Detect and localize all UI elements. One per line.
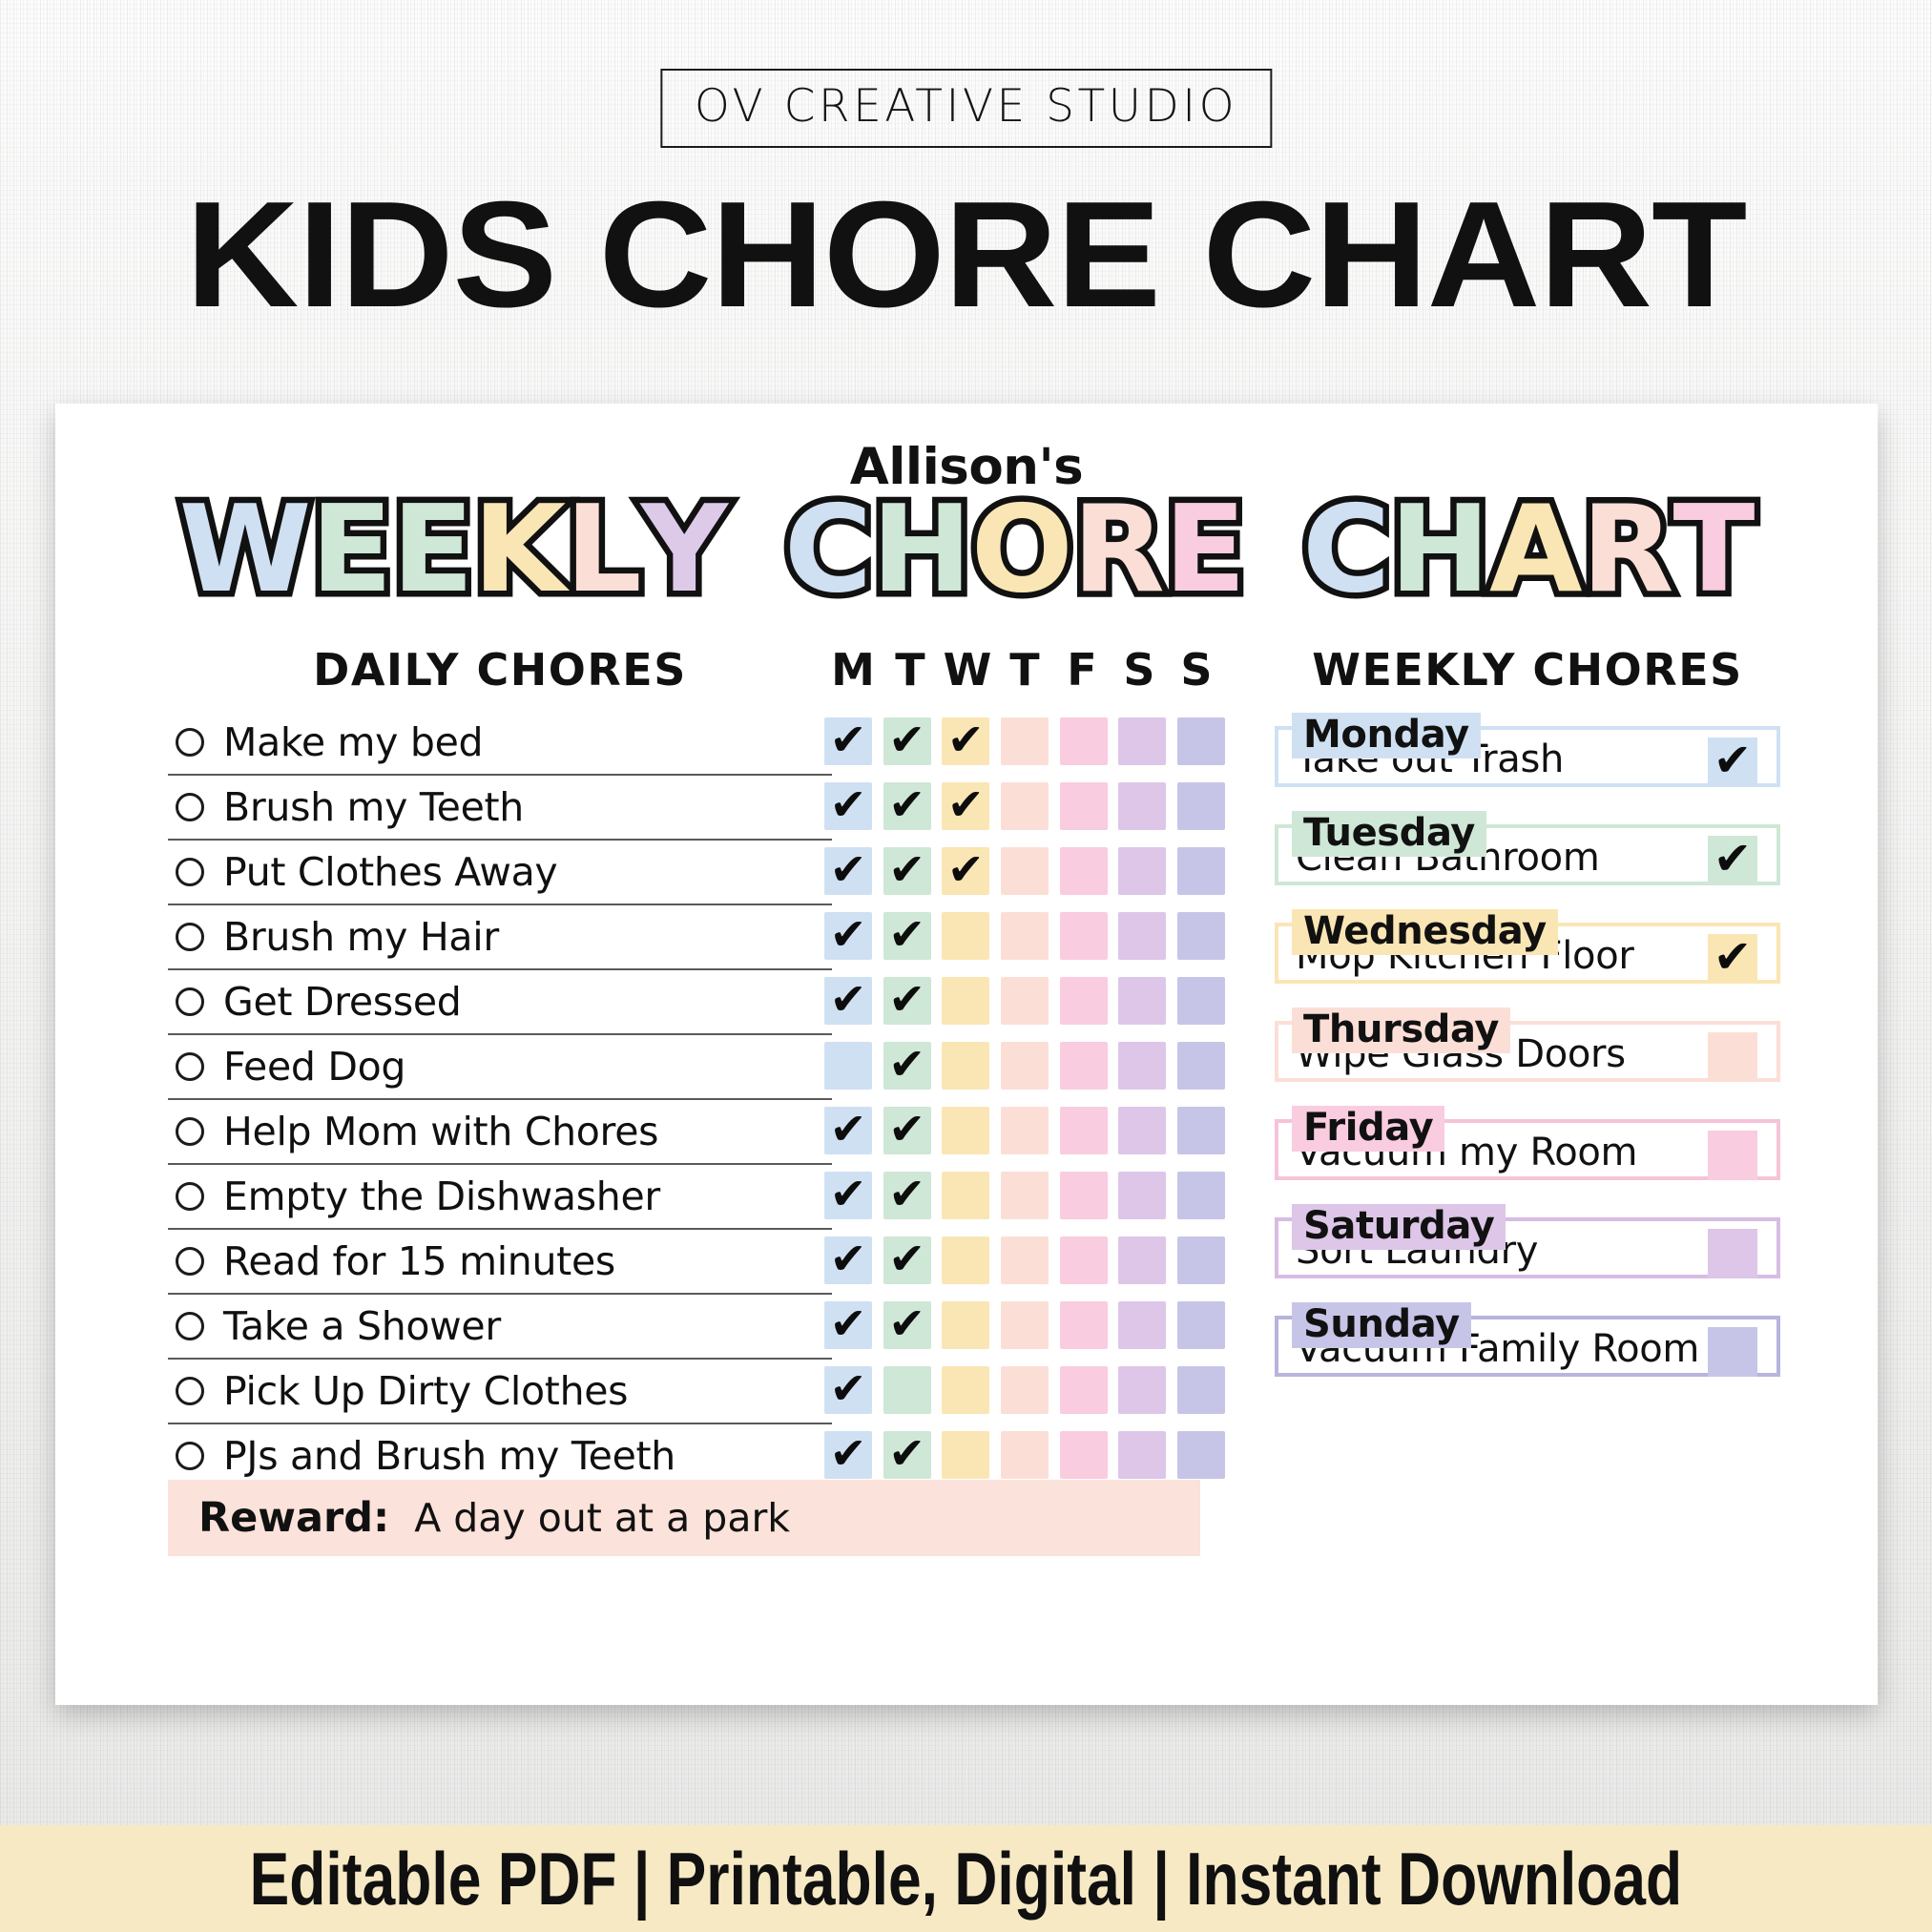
checkbox-swatch xyxy=(1177,977,1225,1025)
week-row: ✔✔ xyxy=(824,1098,1225,1163)
check-icon: ✔ xyxy=(888,1236,925,1280)
week-row: ✔✔ xyxy=(824,1293,1225,1358)
bubble-letter: E xyxy=(392,489,473,610)
day-checkbox[interactable] xyxy=(942,1042,989,1090)
daily-chore-row[interactable]: Brush my Hair xyxy=(168,905,832,970)
footer-text: Editable PDF | Printable, Digital | Inst… xyxy=(250,1836,1682,1922)
checkbox-swatch xyxy=(1177,847,1225,895)
day-letter-6: S xyxy=(1168,644,1225,696)
checkbox-swatch xyxy=(1177,1172,1225,1219)
checkbox-swatch xyxy=(1118,847,1166,895)
day-checkbox[interactable] xyxy=(1118,782,1166,830)
day-checkbox[interactable]: ✔ xyxy=(883,782,931,830)
checkbox-swatch xyxy=(1001,977,1049,1025)
checkbox-swatch xyxy=(1177,1366,1225,1414)
day-checkbox[interactable] xyxy=(1177,1042,1225,1090)
circle-bullet-icon[interactable] xyxy=(176,1182,204,1211)
bubble-title: WEEKLYCHORECHART xyxy=(55,489,1878,610)
day-letter-0: M xyxy=(824,644,882,696)
day-checkbox[interactable] xyxy=(1060,977,1108,1025)
weekly-chore-checkbox[interactable]: ✔ xyxy=(1708,737,1757,787)
reward-bar: Reward: A day out at a park xyxy=(168,1480,1200,1556)
check-icon: ✔ xyxy=(830,1366,867,1410)
day-checkbox[interactable] xyxy=(1060,1236,1108,1284)
daily-chore-label: Empty the Dishwasher xyxy=(223,1174,660,1219)
day-checkbox[interactable] xyxy=(1118,1301,1166,1349)
footer-banner: Editable PDF | Printable, Digital | Inst… xyxy=(0,1825,1932,1932)
bubble-letter: R xyxy=(1072,489,1164,610)
daily-chore-row[interactable]: Put Clothes Away xyxy=(168,841,832,905)
day-checkbox[interactable] xyxy=(1060,1301,1108,1349)
checkbox-swatch xyxy=(824,1042,872,1090)
check-icon: ✔ xyxy=(1714,934,1752,980)
day-checkbox[interactable] xyxy=(942,1172,989,1219)
weekly-chore-checkbox[interactable]: ✔ xyxy=(1708,934,1757,984)
day-checkbox[interactable] xyxy=(1001,1301,1049,1349)
checkbox-swatch xyxy=(1060,1301,1108,1349)
week-row: ✔ xyxy=(824,1358,1225,1423)
circle-bullet-icon[interactable] xyxy=(176,923,204,951)
check-icon: ✔ xyxy=(888,1172,925,1215)
checkbox-swatch xyxy=(942,1172,989,1219)
circle-bullet-icon[interactable] xyxy=(176,1247,204,1276)
chore-chart-card: Allison's WEEKLYCHORECHART DAILY CHORES … xyxy=(55,404,1878,1705)
weekly-chore-item[interactable]: MondayTake out Trash✔ xyxy=(1275,713,1780,787)
day-checkbox[interactable]: ✔ xyxy=(883,1042,931,1090)
day-checkbox[interactable] xyxy=(1001,1042,1049,1090)
checkbox-swatch xyxy=(942,977,989,1025)
check-icon: ✔ xyxy=(888,782,925,826)
day-checkbox[interactable]: ✔ xyxy=(824,1366,872,1414)
checkbox-swatch xyxy=(1177,1042,1225,1090)
checkbox-swatch xyxy=(1060,977,1108,1025)
check-icon: ✔ xyxy=(888,912,925,956)
day-checkbox[interactable] xyxy=(1177,1236,1225,1284)
day-checkbox[interactable] xyxy=(942,1431,989,1479)
daily-chore-label: PJs and Brush my Teeth xyxy=(223,1433,675,1479)
day-checkbox[interactable]: ✔ xyxy=(942,782,989,830)
day-checkbox[interactable]: ✔ xyxy=(824,1301,872,1349)
checkbox-swatch xyxy=(1118,1107,1166,1154)
day-checkbox[interactable] xyxy=(1060,847,1108,895)
day-checkbox[interactable]: ✔ xyxy=(824,912,872,960)
checkbox-swatch xyxy=(1001,1042,1049,1090)
day-checkbox[interactable]: ✔ xyxy=(883,1236,931,1284)
day-checkbox[interactable] xyxy=(1060,717,1108,765)
circle-bullet-icon[interactable] xyxy=(176,793,204,821)
checkbox-swatch xyxy=(1060,1236,1108,1284)
checkbox-swatch xyxy=(1118,782,1166,830)
check-icon: ✔ xyxy=(830,1172,867,1215)
day-checkbox[interactable] xyxy=(1060,782,1108,830)
day-checkbox[interactable]: ✔ xyxy=(824,1431,872,1479)
day-checkbox[interactable] xyxy=(1177,1366,1225,1414)
weekly-chore-checkbox[interactable]: ✔ xyxy=(1708,836,1757,885)
weekly-chore-day-label: Sunday xyxy=(1292,1302,1471,1348)
day-checkbox[interactable] xyxy=(1060,1172,1108,1219)
check-icon: ✔ xyxy=(947,717,985,761)
bubble-word-weekly: WEEKLY xyxy=(179,489,727,610)
weekly-chore-checkbox[interactable] xyxy=(1708,1131,1757,1180)
day-checkbox[interactable]: ✔ xyxy=(824,717,872,765)
checkbox-swatch xyxy=(1118,717,1166,765)
day-checkbox[interactable]: ✔ xyxy=(824,1172,872,1219)
check-icon: ✔ xyxy=(1714,737,1752,783)
circle-bullet-icon[interactable] xyxy=(176,1312,204,1340)
day-checkbox[interactable] xyxy=(824,1042,872,1090)
day-checkbox[interactable] xyxy=(1118,717,1166,765)
day-checkbox[interactable]: ✔ xyxy=(824,1107,872,1154)
day-checkbox[interactable]: ✔ xyxy=(883,1301,931,1349)
day-checkbox[interactable]: ✔ xyxy=(883,977,931,1025)
daily-chore-label: Brush my Teeth xyxy=(223,784,524,830)
checkbox-swatch xyxy=(1177,1107,1225,1154)
bubble-letter: A xyxy=(1489,489,1582,610)
checkbox-swatch xyxy=(1118,912,1166,960)
day-checkbox[interactable] xyxy=(1118,847,1166,895)
bubble-word-chore: CHORE xyxy=(784,489,1245,610)
day-checkbox[interactable] xyxy=(1001,1366,1049,1414)
bubble-letter: T xyxy=(1673,489,1755,610)
daily-chore-row[interactable]: Help Mom with Chores xyxy=(168,1100,832,1165)
week-row: ✔✔✔ xyxy=(824,774,1225,839)
weekly-chore-checkbox[interactable] xyxy=(1708,1032,1757,1082)
check-icon: ✔ xyxy=(830,1431,867,1475)
day-checkbox[interactable] xyxy=(1118,977,1166,1025)
weekly-chore-checkbox[interactable] xyxy=(1708,1229,1757,1278)
checkbox-swatch xyxy=(1001,1301,1049,1349)
check-icon: ✔ xyxy=(947,847,985,891)
check-icon: ✔ xyxy=(1714,836,1752,882)
checkbox-swatch xyxy=(1060,1042,1108,1090)
brand-logo-box: OV CREATIVE STUDIO xyxy=(660,69,1272,148)
checkbox-swatch xyxy=(942,1236,989,1284)
checkbox-swatch xyxy=(1060,782,1108,830)
weekly-chores-column: WEEKLY CHORES MondayTake out Trash✔Tuesd… xyxy=(1275,644,1780,1401)
weekly-chore-day-label: Wednesday xyxy=(1292,909,1558,955)
day-checkbox[interactable]: ✔ xyxy=(883,1172,931,1219)
day-checkbox[interactable] xyxy=(1001,1172,1049,1219)
day-checkbox[interactable] xyxy=(942,1107,989,1154)
checkbox-swatch xyxy=(1001,717,1049,765)
circle-bullet-icon[interactable] xyxy=(176,987,204,1016)
week-row: ✔✔ xyxy=(824,904,1225,968)
checkbox-swatch xyxy=(942,912,989,960)
check-icon: ✔ xyxy=(888,1042,925,1086)
check-icon: ✔ xyxy=(888,717,925,761)
checkbox-swatch xyxy=(1177,912,1225,960)
weekly-chore-checkbox[interactable] xyxy=(1708,1327,1757,1377)
weekly-chore-item[interactable]: FridayVacuum my Room xyxy=(1275,1106,1780,1180)
day-checkbox[interactable] xyxy=(1177,912,1225,960)
brand-logo-text: OV CREATIVE STUDIO xyxy=(695,84,1237,129)
day-checkbox[interactable] xyxy=(1118,912,1166,960)
daily-chores-column: DAILY CHORES Make my bedBrush my TeethPu… xyxy=(168,644,832,1489)
daily-chore-row[interactable]: Pick Up Dirty Clothes xyxy=(168,1360,832,1424)
day-letter-header: MTWTFSS xyxy=(824,644,1225,696)
bubble-letter: O xyxy=(971,489,1072,610)
week-row: ✔✔ xyxy=(824,968,1225,1033)
day-checkbox[interactable] xyxy=(942,1366,989,1414)
week-rows: ✔✔✔✔✔✔✔✔✔✔✔✔✔✔✔✔✔✔✔✔✔✔✔✔✔ xyxy=(824,709,1225,1487)
day-checkbox[interactable] xyxy=(1177,1431,1225,1479)
day-checkbox[interactable] xyxy=(1060,1042,1108,1090)
day-checkbox[interactable] xyxy=(1177,977,1225,1025)
bubble-letter: C xyxy=(1302,489,1389,610)
daily-chore-row[interactable]: Get Dressed xyxy=(168,970,832,1035)
checkbox-swatch xyxy=(1118,1236,1166,1284)
checkbox-swatch xyxy=(1177,782,1225,830)
week-row: ✔✔ xyxy=(824,1163,1225,1228)
bubble-letter: H xyxy=(1390,489,1489,610)
circle-bullet-icon[interactable] xyxy=(176,1052,204,1081)
checkbox-swatch xyxy=(1001,912,1049,960)
day-checkbox[interactable] xyxy=(1177,1107,1225,1154)
weekly-chore-item[interactable]: SaturdaySort Laundry xyxy=(1275,1204,1780,1278)
day-checkbox[interactable] xyxy=(942,977,989,1025)
day-letter-1: T xyxy=(882,644,939,696)
day-checkbox[interactable]: ✔ xyxy=(883,847,931,895)
day-checkbox[interactable] xyxy=(1118,1042,1166,1090)
circle-bullet-icon[interactable] xyxy=(176,858,204,886)
checkbox-swatch xyxy=(1118,1042,1166,1090)
bubble-word-chart: CHART xyxy=(1302,489,1754,610)
check-icon: ✔ xyxy=(888,1107,925,1151)
day-checkbox[interactable] xyxy=(1177,782,1225,830)
daily-chore-label: Put Clothes Away xyxy=(223,849,557,895)
checkbox-swatch xyxy=(1177,1236,1225,1284)
daily-chore-label: Feed Dog xyxy=(223,1044,405,1090)
bubble-letter: R xyxy=(1581,489,1672,610)
checkbox-swatch xyxy=(883,1366,931,1414)
weekly-chores-list: MondayTake out Trash✔TuesdayClean Bathro… xyxy=(1275,713,1780,1377)
weekly-chore-day-label: Monday xyxy=(1292,713,1481,758)
check-icon: ✔ xyxy=(888,847,925,891)
day-checkbox[interactable]: ✔ xyxy=(824,782,872,830)
weekly-chore-day-label: Thursday xyxy=(1292,1008,1510,1053)
bubble-letter: K xyxy=(473,489,566,610)
checkbox-swatch xyxy=(1060,847,1108,895)
check-icon: ✔ xyxy=(830,717,867,761)
checkbox-swatch xyxy=(1001,1236,1049,1284)
day-checkbox[interactable] xyxy=(1001,847,1049,895)
checkbox-swatch xyxy=(1060,1431,1108,1479)
daily-chore-label: Help Mom with Chores xyxy=(223,1109,658,1154)
day-checkbox[interactable] xyxy=(1118,1431,1166,1479)
checkbox-swatch xyxy=(1177,1301,1225,1349)
day-checkbox[interactable]: ✔ xyxy=(824,977,872,1025)
bubble-letter: C xyxy=(784,489,871,610)
day-checkbox[interactable] xyxy=(883,1366,931,1414)
checkbox-swatch xyxy=(1001,847,1049,895)
week-row: ✔✔ xyxy=(824,1423,1225,1487)
reward-value[interactable]: A day out at a park xyxy=(414,1495,790,1541)
day-checkbox[interactable] xyxy=(1001,717,1049,765)
week-row: ✔ xyxy=(824,1033,1225,1098)
day-checkbox[interactable] xyxy=(1060,1107,1108,1154)
day-checkbox[interactable] xyxy=(1060,912,1108,960)
check-icon: ✔ xyxy=(830,912,867,956)
bubble-letter: Y xyxy=(641,489,727,610)
check-icon: ✔ xyxy=(830,847,867,891)
checkbox-swatch xyxy=(942,1431,989,1479)
day-checkbox[interactable] xyxy=(1118,1172,1166,1219)
bubble-letter: W xyxy=(179,489,311,610)
daily-chore-label: Brush my Hair xyxy=(223,914,499,960)
checkbox-swatch xyxy=(942,1301,989,1349)
weekly-chore-item[interactable]: WednesdayMop Kitchen Floor✔ xyxy=(1275,909,1780,984)
weekly-chore-item[interactable]: SundayVacuum Family Room xyxy=(1275,1302,1780,1377)
week-row: ✔✔✔ xyxy=(824,839,1225,904)
reward-label: Reward: xyxy=(198,1494,389,1542)
daily-chore-row[interactable]: Read for 15 minutes xyxy=(168,1230,832,1295)
daily-chore-label: Read for 15 minutes xyxy=(223,1238,615,1284)
daily-chore-label: Take a Shower xyxy=(223,1303,501,1349)
day-checkbox[interactable] xyxy=(942,1236,989,1284)
chart-body: DAILY CHORES Make my bedBrush my TeethPu… xyxy=(55,644,1878,1705)
weekly-chore-day-label: Friday xyxy=(1292,1106,1444,1152)
checkbox-swatch xyxy=(1118,1431,1166,1479)
checkbox-swatch xyxy=(1001,782,1049,830)
checkbox-swatch xyxy=(1118,1172,1166,1219)
checkbox-swatch xyxy=(1001,1431,1049,1479)
day-checkbox[interactable]: ✔ xyxy=(824,1236,872,1284)
checkbox-swatch xyxy=(942,1366,989,1414)
day-letter-4: F xyxy=(1053,644,1111,696)
weekly-chore-item[interactable]: TuesdayClean Bathroom✔ xyxy=(1275,811,1780,885)
check-icon: ✔ xyxy=(830,782,867,826)
weekly-chore-item[interactable]: ThursdayWipe Glass Doors xyxy=(1275,1008,1780,1082)
day-checkbox[interactable] xyxy=(942,1301,989,1349)
day-checkbox[interactable] xyxy=(1118,1366,1166,1414)
checkbox-swatch xyxy=(1001,1172,1049,1219)
week-row: ✔✔✔ xyxy=(824,709,1225,774)
daily-chores-list: Make my bedBrush my TeethPut Clothes Awa… xyxy=(168,711,832,1489)
weekly-chore-day-label: Saturday xyxy=(1292,1204,1506,1250)
checkbox-swatch xyxy=(1060,1172,1108,1219)
daily-chores-heading: DAILY CHORES xyxy=(168,644,832,696)
checkbox-swatch xyxy=(1118,977,1166,1025)
day-checkbox[interactable]: ✔ xyxy=(883,717,931,765)
checkbox-swatch xyxy=(942,1042,989,1090)
day-checkbox[interactable]: ✔ xyxy=(883,1431,931,1479)
day-checkbox[interactable] xyxy=(1001,912,1049,960)
checkbox-swatch xyxy=(1177,1431,1225,1479)
daily-chore-label: Get Dressed xyxy=(223,979,462,1025)
weekly-chores-heading: WEEKLY CHORES xyxy=(1275,644,1780,696)
day-checkbox[interactable]: ✔ xyxy=(942,717,989,765)
day-checkbox[interactable] xyxy=(1001,782,1049,830)
checkbox-swatch xyxy=(1118,1301,1166,1349)
bubble-letter: L xyxy=(565,489,640,610)
day-letter-3: T xyxy=(996,644,1053,696)
day-checkbox[interactable] xyxy=(1001,1236,1049,1284)
circle-bullet-icon[interactable] xyxy=(176,1377,204,1405)
page-title: KIDS CHORE CHART xyxy=(0,174,1932,337)
checkbox-swatch xyxy=(1177,717,1225,765)
check-icon: ✔ xyxy=(830,977,867,1021)
weekly-chore-day-label: Tuesday xyxy=(1292,811,1486,857)
check-icon: ✔ xyxy=(830,1107,867,1151)
daily-chore-row[interactable]: Make my bed xyxy=(168,711,832,776)
week-checkbox-grid: MTWTFSS ✔✔✔✔✔✔✔✔✔✔✔✔✔✔✔✔✔✔✔✔✔✔✔✔✔ xyxy=(824,644,1225,1487)
checkbox-swatch xyxy=(1001,1107,1049,1154)
circle-bullet-icon[interactable] xyxy=(176,1117,204,1146)
check-icon: ✔ xyxy=(830,1301,867,1345)
checkbox-swatch xyxy=(942,1107,989,1154)
daily-chore-row[interactable]: Brush my Teeth xyxy=(168,776,832,841)
day-checkbox[interactable]: ✔ xyxy=(883,912,931,960)
checkbox-swatch xyxy=(1060,912,1108,960)
day-checkbox[interactable] xyxy=(1001,1431,1049,1479)
check-icon: ✔ xyxy=(888,1301,925,1345)
daily-chore-row[interactable]: Take a Shower xyxy=(168,1295,832,1360)
day-letter-2: W xyxy=(939,644,996,696)
check-icon: ✔ xyxy=(888,977,925,1021)
checkbox-swatch xyxy=(1060,717,1108,765)
day-checkbox[interactable]: ✔ xyxy=(824,847,872,895)
daily-chore-label: Make my bed xyxy=(223,719,483,765)
day-checkbox[interactable] xyxy=(1060,1431,1108,1479)
checkbox-swatch xyxy=(1001,1366,1049,1414)
daily-chore-label: Pick Up Dirty Clothes xyxy=(223,1368,628,1414)
circle-bullet-icon[interactable] xyxy=(176,728,204,757)
day-checkbox[interactable] xyxy=(1118,1236,1166,1284)
checkbox-swatch xyxy=(1118,1366,1166,1414)
day-checkbox[interactable] xyxy=(1177,1301,1225,1349)
day-checkbox[interactable] xyxy=(1001,977,1049,1025)
day-checkbox[interactable]: ✔ xyxy=(942,847,989,895)
day-checkbox[interactable] xyxy=(942,912,989,960)
day-checkbox[interactable] xyxy=(1177,717,1225,765)
checkbox-swatch xyxy=(1060,1366,1108,1414)
check-icon: ✔ xyxy=(830,1236,867,1280)
bubble-letter: E xyxy=(311,489,392,610)
daily-chore-row[interactable]: Empty the Dishwasher xyxy=(168,1165,832,1230)
bubble-letter: E xyxy=(1164,489,1245,610)
day-checkbox[interactable] xyxy=(1177,1172,1225,1219)
day-letter-5: S xyxy=(1111,644,1168,696)
week-row: ✔✔ xyxy=(824,1228,1225,1293)
day-checkbox[interactable] xyxy=(1001,1107,1049,1154)
checkbox-swatch xyxy=(1060,1107,1108,1154)
check-icon: ✔ xyxy=(947,782,985,826)
day-checkbox[interactable] xyxy=(1060,1366,1108,1414)
day-checkbox[interactable] xyxy=(1177,847,1225,895)
bubble-letter: H xyxy=(871,489,970,610)
daily-chore-row[interactable]: Feed Dog xyxy=(168,1035,832,1100)
day-checkbox[interactable]: ✔ xyxy=(883,1107,931,1154)
check-icon: ✔ xyxy=(888,1431,925,1475)
circle-bullet-icon[interactable] xyxy=(176,1442,204,1470)
day-checkbox[interactable] xyxy=(1118,1107,1166,1154)
